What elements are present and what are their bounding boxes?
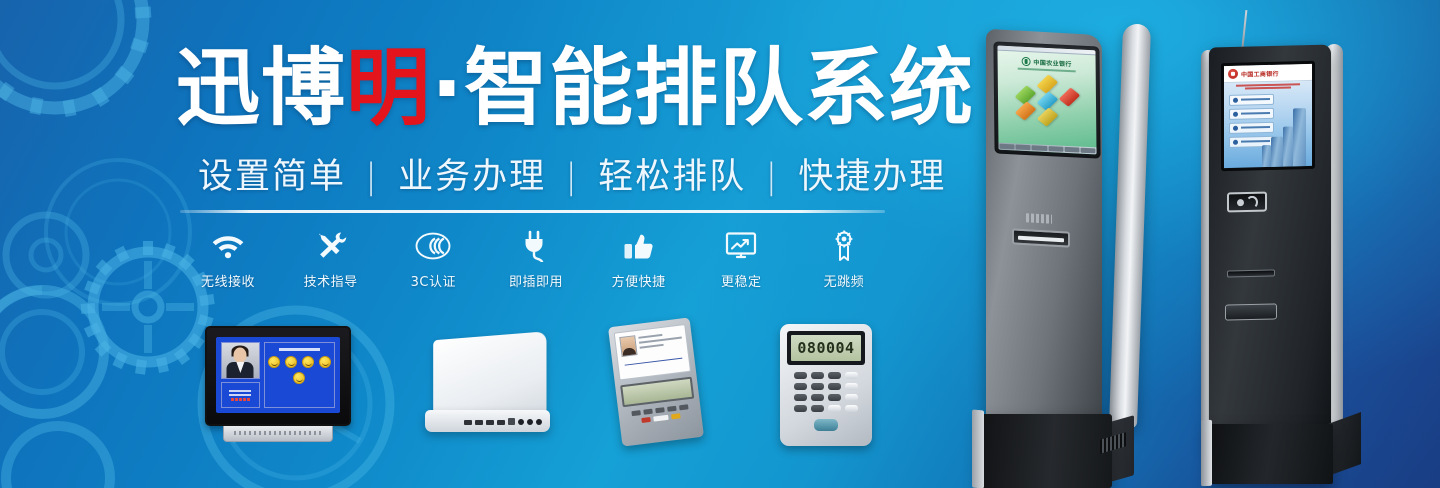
host-panel	[433, 331, 546, 414]
service-tile[interactable]	[1059, 87, 1081, 106]
page-title: 迅博明·智能排队系统	[176, 34, 936, 142]
evaluator-photo	[619, 335, 637, 357]
kiosk-standing-queue-machine: 中国工商银行	[1195, 16, 1385, 472]
product-calling-keypad: 080004	[780, 324, 872, 446]
bank-logo-mark	[1228, 69, 1238, 79]
rating-face-group	[268, 356, 331, 384]
feature-label: 技术指导	[304, 271, 358, 290]
feature-item-convenient: 方便快捷	[591, 228, 687, 290]
headline-part1: 迅博	[176, 39, 346, 137]
bank-logo-mark	[1021, 57, 1030, 66]
rating-prompt	[279, 348, 319, 351]
kiosk2-card-reader[interactable]	[1227, 192, 1267, 213]
keypad-lcd: 080004	[791, 335, 861, 361]
horizontal-divider	[180, 210, 885, 213]
monitor-rating-panel	[264, 342, 335, 408]
monitor-screen	[216, 337, 340, 413]
feature-item-no-frequency-hopping: 无跳频	[796, 228, 892, 290]
subtitle-separator: |	[559, 157, 585, 197]
host-port-row	[464, 418, 542, 425]
service-tile[interactable]	[1015, 101, 1037, 120]
kiosk2-base	[1207, 424, 1333, 484]
wifi-icon	[211, 228, 245, 264]
subtitle-item-2: 轻松排队	[598, 157, 746, 197]
monitor-bezel	[205, 326, 351, 426]
service-tile[interactable]	[1037, 107, 1059, 126]
kiosk2-base-edge	[1201, 420, 1212, 486]
staff-name-box	[221, 382, 260, 408]
kiosk1-brand-emblem	[1026, 213, 1052, 223]
thumbs-up-icon	[623, 228, 655, 264]
kiosk2-screen[interactable]: 中国工商银行	[1224, 64, 1312, 168]
feature-label: 3C认证	[411, 271, 456, 290]
kiosk1-service-tiles	[1013, 76, 1081, 125]
feature-item-3c-certification: 3C认证	[385, 228, 481, 290]
subtitle-item-3: 快捷办理	[798, 157, 946, 197]
monitor-staff-panel	[221, 342, 260, 408]
menu-item[interactable]	[1229, 93, 1274, 105]
kiosk1-ticket-printer-slot	[1012, 228, 1070, 247]
keypad-buttons	[787, 372, 865, 412]
kiosk1-side-column	[1109, 24, 1151, 428]
kiosk1-base	[978, 414, 1112, 488]
rating-stars	[231, 398, 250, 401]
keypad-body: 080004	[780, 324, 872, 446]
kiosk1-tagline	[1018, 68, 1075, 72]
rating-face	[293, 372, 305, 384]
monitor-stand	[223, 426, 334, 442]
feature-item-technical-guidance: 技术指导	[283, 228, 379, 290]
award-ribbon-icon	[831, 228, 857, 264]
keypad-call-button[interactable]	[814, 419, 838, 431]
subtitle: 设置简单 | 业务办理 | 轻松排队 | 快捷办理	[198, 148, 898, 199]
rating-face	[319, 356, 331, 368]
kiosk2-ticket-slot	[1227, 269, 1275, 277]
evaluator-card-text	[638, 330, 685, 373]
evaluator-body	[608, 317, 704, 446]
kiosk1-screen-frame: 中国农业银行	[993, 41, 1100, 158]
evaluator-name-card	[614, 324, 691, 380]
staff-photo	[221, 342, 260, 379]
feature-label: 无跳频	[824, 271, 865, 290]
kiosk1-screen-topbar	[997, 46, 1095, 56]
power-plug-icon	[521, 228, 551, 264]
host-base	[425, 410, 550, 432]
kiosk2-tray	[1225, 303, 1277, 320]
bank-name: 中国工商银行	[1241, 68, 1279, 78]
feature-label: 即插即用	[509, 271, 563, 290]
feature-list: 无线接收 技术指导 3C认证	[180, 228, 892, 294]
kiosk-queue-ticket-machine: 中国农业银行	[960, 18, 1160, 470]
product-showcase: 080004	[0, 318, 930, 468]
subtitle-item-0: 设置简单	[198, 157, 346, 197]
kiosk1-screen-bottombar	[998, 143, 1096, 155]
kiosk2-bank-header: 中国工商银行	[1224, 64, 1312, 83]
subtitle-separator: |	[759, 157, 785, 197]
feature-label: 更稳定	[721, 271, 762, 290]
feature-item-plug-and-play: 即插即用	[488, 228, 584, 290]
product-evaluation-monitor	[205, 326, 351, 442]
feature-item-wireless: 无线接收	[180, 228, 276, 290]
monitor-chart-icon	[725, 228, 757, 264]
kiosk1-bank-logo: 中国农业银行	[1001, 56, 1093, 70]
kiosk2-city-illustration	[1258, 104, 1310, 167]
subtitle-item-1: 业务办理	[398, 157, 546, 197]
product-host-controller	[425, 336, 550, 436]
feature-label: 无线接收	[201, 271, 255, 290]
queue-number-display: 080004	[797, 339, 854, 357]
headline-highlight: 明	[346, 39, 431, 137]
evaluator-lcd	[620, 377, 694, 408]
subtitle-separator: |	[359, 157, 385, 197]
promo-banner: 迅博明·智能排队系统 设置简单 | 业务办理 | 轻松排队 | 快捷办理 无线接…	[0, 0, 1440, 488]
service-tile[interactable]	[1037, 74, 1059, 93]
feature-item-more-stable: 更稳定	[693, 228, 789, 290]
kiosk2-screen-frame: 中国工商银行	[1221, 61, 1315, 171]
rating-face	[302, 356, 314, 368]
tools-icon	[315, 228, 347, 264]
product-desktop-evaluator	[605, 318, 710, 450]
evaluator-keypad	[623, 403, 696, 425]
rating-face	[285, 356, 297, 368]
kiosk1-screen[interactable]: 中国农业银行	[997, 46, 1096, 155]
ccc-certification-icon	[415, 228, 451, 264]
rating-face	[268, 356, 280, 368]
headline-part2: ·智能排队系统	[431, 39, 974, 137]
bank-name: 中国农业银行	[1033, 57, 1071, 68]
feature-label: 方便快捷	[612, 271, 666, 290]
keypad-lcd-frame: 080004	[787, 331, 865, 365]
